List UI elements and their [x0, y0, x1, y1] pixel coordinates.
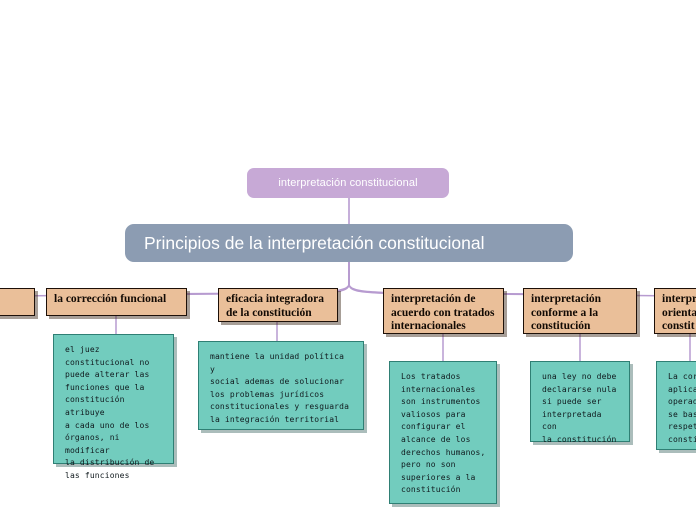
topic-box-4[interactable]: interpretación conforme a la constitució…: [523, 288, 637, 334]
topic-box-2-label: eficacia integradora de la constitución: [226, 293, 330, 320]
note-box-4-label: una ley no debe declararse nula si puede…: [542, 371, 620, 447]
note-box-5[interactable]: La corr aplicar operado se basa respeta …: [656, 361, 696, 450]
note-box-1[interactable]: el juez constitucional no puede alterar …: [53, 334, 174, 464]
note-box-1-label: el juez constitucional no puede alterar …: [65, 344, 164, 483]
note-box-2[interactable]: mantiene la unidad política y social ade…: [198, 341, 364, 430]
topic-box-5[interactable]: interpr orienta constit: [654, 288, 696, 334]
root-node-label: interpretación constitucional: [278, 177, 417, 189]
topic-box-0[interactable]: ion: [0, 288, 35, 316]
topic-box-4-label: interpretación conforme a la constitució…: [531, 293, 629, 334]
main-title-label: Principios de la interpretación constitu…: [144, 233, 484, 254]
note-box-5-label: La corr aplicar operado se basa respeta …: [668, 371, 696, 447]
topic-box-3-label: interpretación de acuerdo con tratados i…: [391, 293, 496, 334]
topic-box-5-label: interpr orienta constit: [662, 293, 696, 334]
topic-box-1-label: la corrección funcional: [54, 293, 179, 307]
note-box-3-label: Los tratados internacionales son instrum…: [401, 371, 487, 497]
note-box-2-label: mantiene la unidad política y social ade…: [210, 351, 354, 427]
mind-map-canvas: interpretación constitucional Principios…: [0, 0, 696, 520]
note-box-3[interactable]: Los tratados internacionales son instrum…: [389, 361, 497, 504]
root-node[interactable]: interpretación constitucional: [247, 168, 449, 198]
note-box-4[interactable]: una ley no debe declararse nula si puede…: [530, 361, 630, 442]
topic-box-1[interactable]: la corrección funcional: [46, 288, 187, 316]
topic-box-2[interactable]: eficacia integradora de la constitución: [218, 288, 338, 322]
main-title-node[interactable]: Principios de la interpretación constitu…: [125, 224, 573, 262]
topic-box-0-label: ion: [0, 293, 27, 307]
topic-box-3[interactable]: interpretación de acuerdo con tratados i…: [383, 288, 504, 334]
